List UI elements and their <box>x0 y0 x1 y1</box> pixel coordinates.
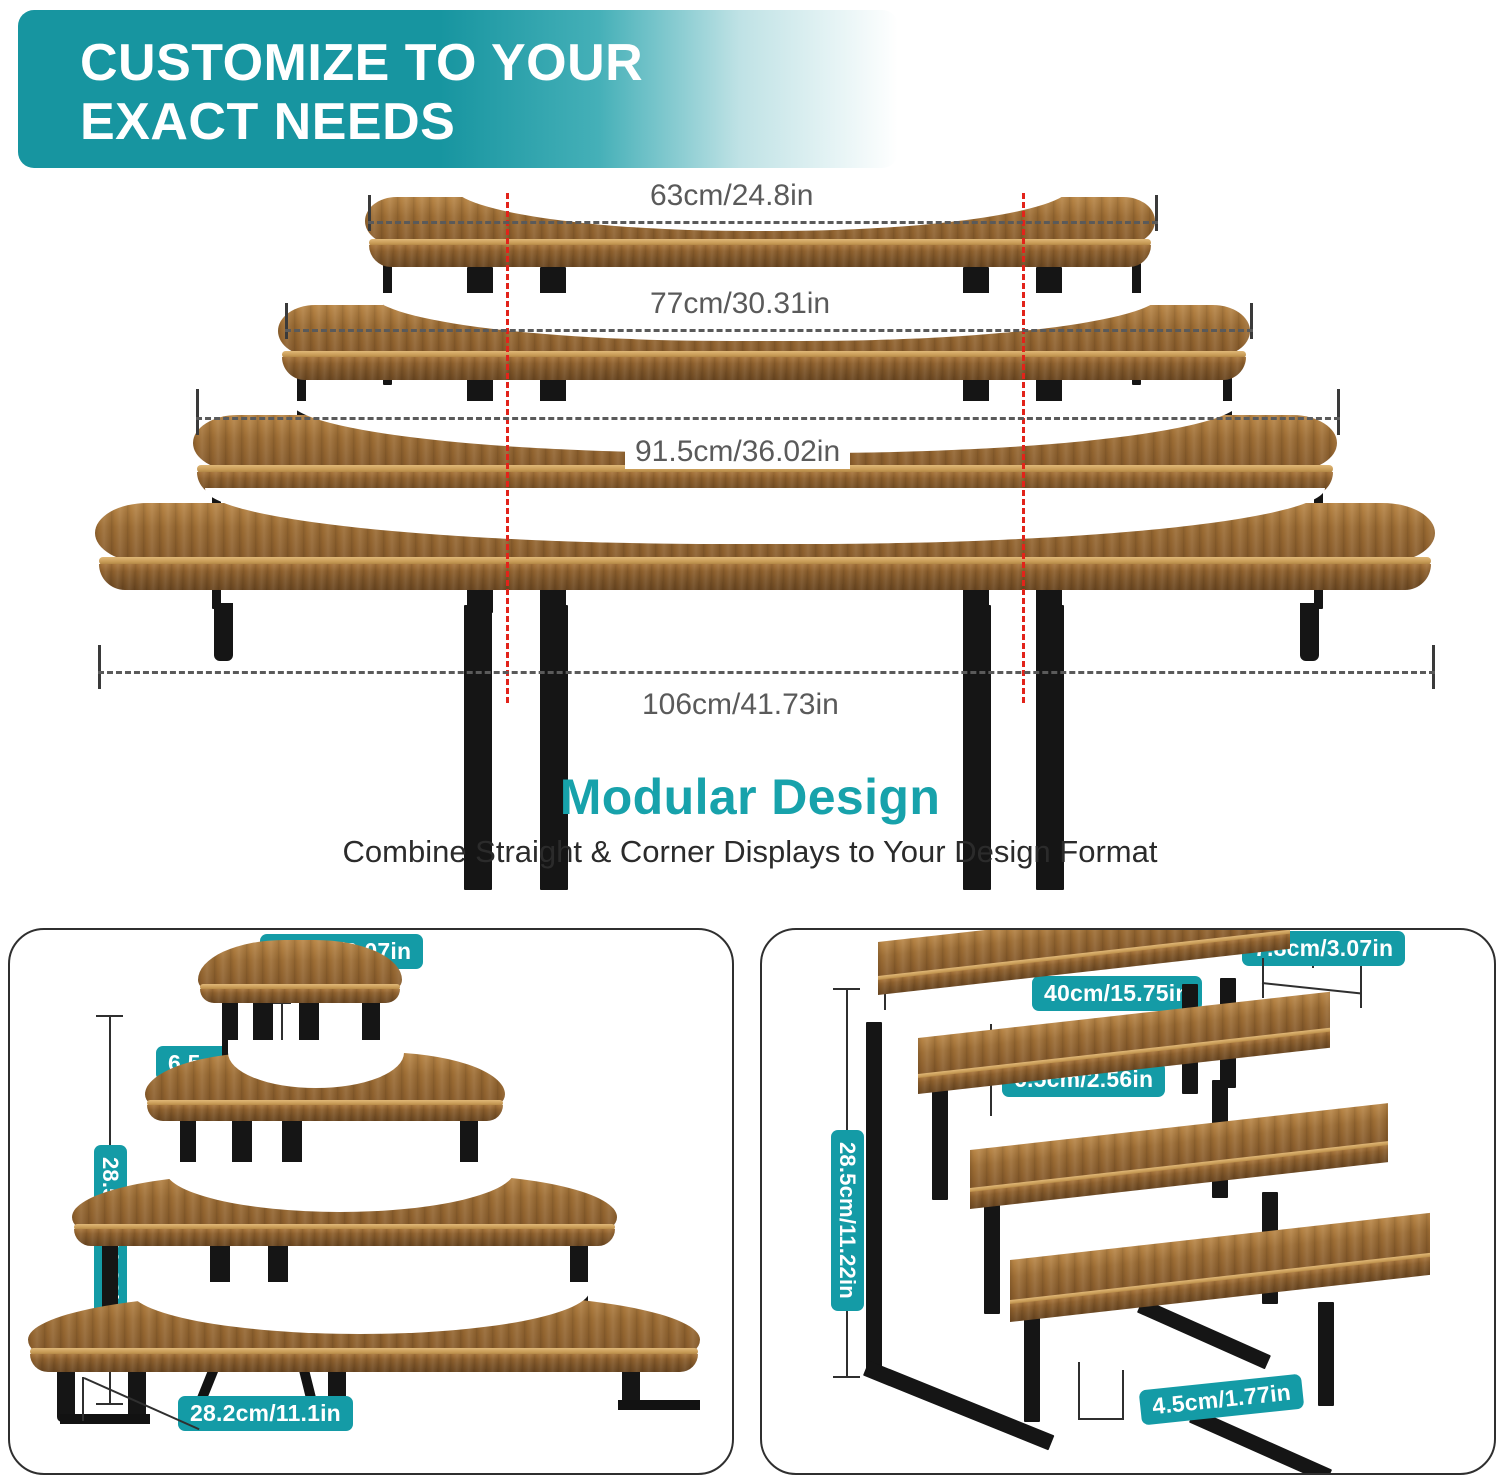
corner-height-cap-top <box>96 1015 123 1017</box>
straight-depth-lead-right <box>1360 966 1362 1008</box>
dim-4-tick-left <box>98 645 101 689</box>
dim-3-line <box>196 417 1340 420</box>
straight-tier3-leg-back <box>932 1090 948 1200</box>
straight-length-badge: 40cm/15.75in <box>1032 976 1202 1011</box>
corner-width-tick <box>82 1377 84 1421</box>
straight-base-cap <box>1078 1418 1124 1420</box>
split-line-right <box>1022 193 1025 703</box>
straight-tier2-leg-back <box>984 1202 1000 1314</box>
corner-tier3-front <box>147 1105 503 1121</box>
corner-width-badge: 28.2cm/11.1in <box>178 1396 353 1431</box>
straight-tier1-leg-back <box>1024 1314 1040 1422</box>
corner-tier2-front <box>74 1229 615 1246</box>
dim-2-tick-left <box>285 303 288 339</box>
dim-1-tick-left <box>368 195 371 231</box>
dim-3-tick-right <box>1337 389 1340 435</box>
corner-height-cap-bottom <box>96 1403 123 1405</box>
tier-4-leg-right <box>1300 603 1319 661</box>
straight-tier2-foot <box>1137 1299 1271 1370</box>
dim-2-label: 77cm/30.31in <box>640 287 840 321</box>
dim-1-label: 63cm/24.8in <box>640 179 823 213</box>
straight-height-cap-bottom <box>833 1376 860 1378</box>
tier-4-leg-left <box>214 603 233 661</box>
straight-base-lead-right <box>1122 1370 1124 1420</box>
dim-4-line <box>98 671 1435 674</box>
tier-1-plank-front <box>369 245 1151 267</box>
tier-2-plank-front <box>282 357 1246 380</box>
dim-1-tick-right <box>1155 195 1158 231</box>
straight-tier1-leg-front <box>1318 1302 1334 1406</box>
dim-2-tick-right <box>1250 303 1253 339</box>
straight-depth-connector <box>1262 982 1362 994</box>
corner-tier4-front <box>200 989 400 1003</box>
straight-depth-lead-left <box>1262 958 1264 998</box>
straight-height-cap-top <box>833 988 860 990</box>
straight-base-badge: 4.5cm/1.77in <box>1139 1374 1305 1426</box>
tier-4-plank-front <box>99 564 1431 590</box>
dim-4-label: 106cm/41.73in <box>632 688 849 722</box>
dim-2-line <box>285 329 1253 332</box>
straight-display-panel: 28.5cm/11.22in 40cm/15.75in 7.8cm/3.07in… <box>760 928 1496 1475</box>
main-product-diagram: 63cm/24.8in 77cm/30.31in 91.5cm/36.02in … <box>0 175 1500 755</box>
straight-base-lead-left <box>1078 1362 1080 1418</box>
straight-height-badge: 28.5cm/11.22in <box>831 1130 864 1311</box>
header-banner: CUSTOMIZE TO YOUR EXACT NEEDS <box>18 10 898 168</box>
dim-4-tick-right <box>1432 645 1435 689</box>
straight-tier1-foot <box>1189 1409 1332 1475</box>
split-line-left <box>506 193 509 703</box>
corner-tier1-front <box>30 1354 698 1372</box>
banner-title: CUSTOMIZE TO YOUR EXACT NEEDS <box>80 34 840 153</box>
modular-design-subtitle: Combine Straight & Corner Displays to Yo… <box>0 834 1500 870</box>
dim-1-line <box>368 221 1158 224</box>
dim-3-tick-left <box>196 389 199 435</box>
dim-3-label: 91.5cm/36.02in <box>625 435 850 469</box>
corner-display-panel: 28.5cm/11.22in 7.8cm/3.07in 6.5cm/2.56in <box>8 928 734 1475</box>
straight-frame-left-rail <box>866 1022 882 1370</box>
modular-design-title: Modular Design <box>0 768 1500 826</box>
